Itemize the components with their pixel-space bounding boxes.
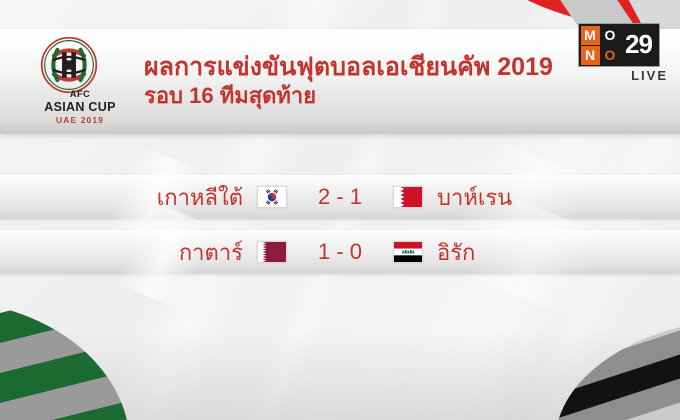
tournament-logo: AFC ASIAN CUP UAE 2019 <box>34 34 126 130</box>
home-team-name: กาตาร์ <box>123 235 243 270</box>
match-row: กาตาร์ 1 - 0 <box>0 230 680 274</box>
logo-letter-n: N <box>581 46 600 65</box>
logo-letter-o-bottom: O <box>601 46 620 65</box>
match-score: 2 - 1 <box>301 184 379 210</box>
logo-letter-m: M <box>581 26 600 45</box>
iraq-flag-icon <box>393 241 423 263</box>
green-ribbon-decoration <box>0 300 130 420</box>
home-team-name: เกาหลีใต้ <box>123 180 243 215</box>
dark-ribbon-decoration <box>555 318 680 420</box>
channel-logo: M N O O 29 LIVE <box>578 23 670 83</box>
header-titles: ผลการแข่งขันฟุตบอลเอเชียนคัพ 2019 รอบ 16… <box>144 54 553 109</box>
logo-line-asian-cup: ASIAN CUP <box>34 101 126 114</box>
match-score: 1 - 0 <box>301 239 379 265</box>
logo-line-uae-2019: UAE 2019 <box>34 116 126 125</box>
logo-channel-number: 29 <box>620 25 658 65</box>
away-team-name: บาห์เรน <box>437 180 557 215</box>
qatar-flag-icon <box>257 241 287 263</box>
match-row: เกาหลีใต้ <box>0 175 680 219</box>
away-team-name: อิรัก <box>437 235 557 270</box>
bahrain-flag-icon <box>393 186 423 208</box>
page-title: ผลการแข่งขันฟุตบอลเอเชียนคัพ 2019 <box>144 54 553 80</box>
page-subtitle: รอบ 16 ทีมสุดท้าย <box>144 83 553 108</box>
logo-letter-o-top: O <box>601 26 620 45</box>
south-korea-flag-icon <box>257 186 287 208</box>
broadcast-graphic-screen: AFC ASIAN CUP UAE 2019 ผลการแข่งขันฟุตบอ… <box>0 0 680 420</box>
live-badge: LIVE <box>578 68 670 83</box>
logo-line-afc: AFC <box>34 90 126 100</box>
